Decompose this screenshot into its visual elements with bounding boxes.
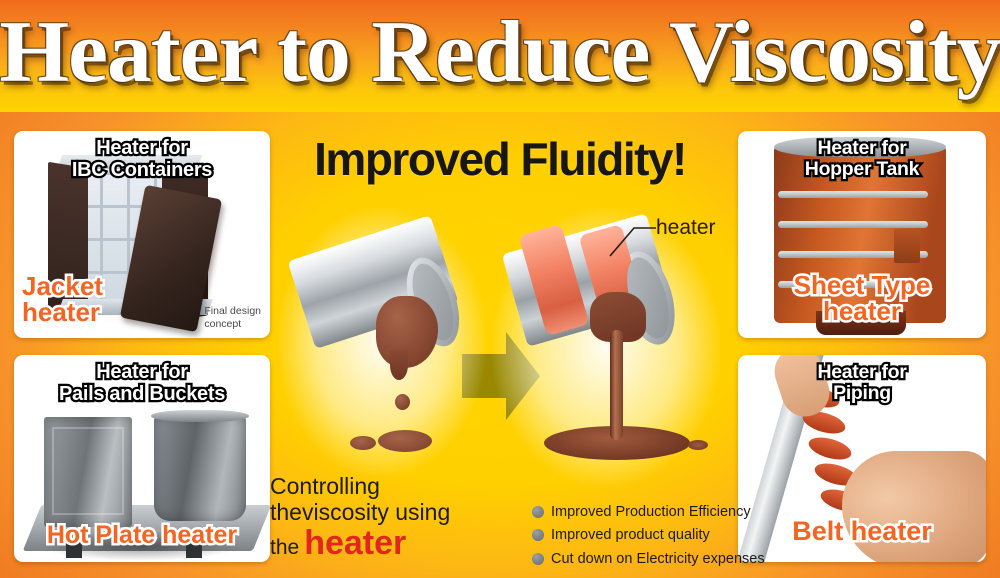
controlling-heater-word: heater — [304, 526, 406, 560]
liquid-stream — [610, 330, 623, 440]
panel-title-line2: Hopper Tank — [738, 159, 986, 180]
bullet-icon — [532, 506, 544, 518]
panel-subtitle-line2: heater — [738, 298, 986, 324]
benefit-label: Cut down on Electricity expenses — [551, 552, 765, 567]
panel-title-piping: Heater for Piping — [738, 362, 986, 404]
illustration-before-heating — [292, 222, 472, 462]
controlling-line3: the heater — [270, 526, 495, 560]
page-title: Heater to Reduce Viscosity — [0, 0, 1000, 108]
panel-title-line2: Pails and Buckets — [14, 384, 270, 406]
panel-title-line1: Heater for — [738, 362, 986, 383]
final-design-concept-note: Final design concept — [204, 305, 261, 330]
panel-title-hopper: Heater for Hopper Tank — [738, 138, 986, 180]
benefit-label: Improved product quality — [551, 528, 710, 543]
panel-subtitle-line1: Jacket — [22, 273, 270, 300]
panel-subtitle-sheet-type-heater: Sheet Type heater — [738, 272, 986, 324]
liquid-puddle — [378, 430, 432, 452]
panel-subtitle-line1: Sheet Type — [738, 272, 986, 298]
panel-subtitle-hot-plate-heater: Hot Plate heater — [14, 523, 270, 549]
panel-title-line1: Heater for — [738, 138, 986, 159]
headline: Improved Fluidity! — [262, 136, 738, 182]
benefit-label: Improved Production Efficiency — [551, 505, 751, 520]
panel-ibc-containers[interactable]: Heater for IBC Containers Jacket heater … — [14, 131, 270, 338]
controlling-copy: Controlling theviscosity using the heate… — [270, 474, 495, 560]
list-item: Improved Production Efficiency — [532, 505, 782, 520]
note-line1: Final design — [204, 305, 261, 317]
liquid-puddle-small — [350, 436, 376, 450]
callout-label: heater — [656, 216, 716, 240]
liquid-droplet — [395, 394, 410, 410]
bullet-icon — [532, 529, 544, 541]
panel-title-pails: Heater for Pails and Buckets — [14, 362, 270, 405]
liquid-puddle-dot — [688, 440, 708, 450]
viscous-liquid-tail — [390, 350, 408, 380]
leader-line-icon — [608, 220, 660, 260]
note-line2: concept — [204, 318, 261, 330]
panel-pails-and-buckets[interactable]: Heater for Pails and Buckets Hot Plate h… — [14, 355, 270, 562]
controlling-the: the — [270, 536, 299, 560]
bullet-icon — [532, 553, 544, 565]
panel-title-line1: Heater for — [14, 138, 270, 160]
panel-hopper-tank[interactable]: Heater for Hopper Tank Sheet Type heater — [738, 131, 986, 338]
poster-root: Heater to Reduce Viscosity Improved Flui… — [0, 0, 1000, 578]
controlling-line2: theviscosity using — [270, 500, 495, 526]
panel-subtitle-belt-heater: Belt heater — [738, 518, 986, 546]
panel-title-line2: Piping — [738, 383, 986, 404]
panel-title-line1: Heater for — [14, 362, 270, 384]
list-item: Cut down on Electricity expenses — [532, 552, 782, 567]
illustration-after-heating — [506, 222, 706, 472]
controlling-line1: Controlling — [270, 474, 495, 500]
panel-piping[interactable]: Heater for Piping Belt heater — [738, 355, 986, 562]
panel-title-ibc: Heater for IBC Containers — [14, 138, 270, 181]
panel-title-line2: IBC Containers — [14, 160, 270, 182]
